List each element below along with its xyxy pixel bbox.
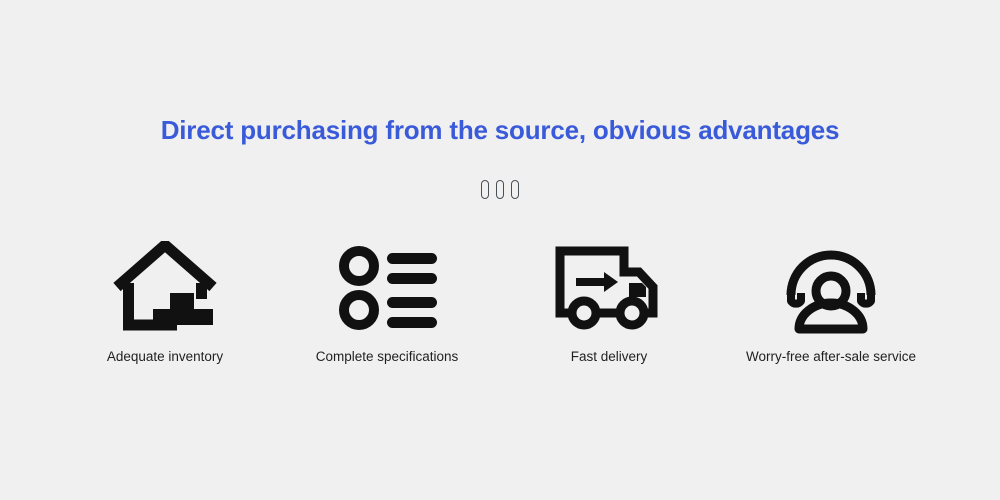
feature-item-adequate-inventory: Adequate inventory [54,238,276,366]
feature-label: Worry-free after-sale service [746,348,916,366]
promo-banner: Direct purchasing from the source, obvio… [0,0,1000,500]
divider-pill-3 [511,180,519,199]
feature-item-after-sale-service: Worry-free after-sale service [720,238,942,366]
page-title: Direct purchasing from the source, obvio… [0,113,1000,147]
feature-list: Adequate inventory Complete specific [0,238,1000,366]
feature-label: Complete specifications [316,348,459,366]
three-pill-divider [0,180,1000,199]
headset-support-agent-icon [781,238,881,338]
list-circles-bars-icon [335,238,439,338]
divider-pill-2 [496,180,504,199]
warehouse-house-boxes-icon [113,238,217,338]
feature-label: Adequate inventory [107,348,223,366]
feature-label: Fast delivery [571,348,648,366]
feature-item-fast-delivery: Fast delivery [498,238,720,366]
divider-pill-1 [481,180,489,199]
delivery-truck-arrow-icon [554,238,664,338]
feature-item-complete-specifications: Complete specifications [276,238,498,366]
